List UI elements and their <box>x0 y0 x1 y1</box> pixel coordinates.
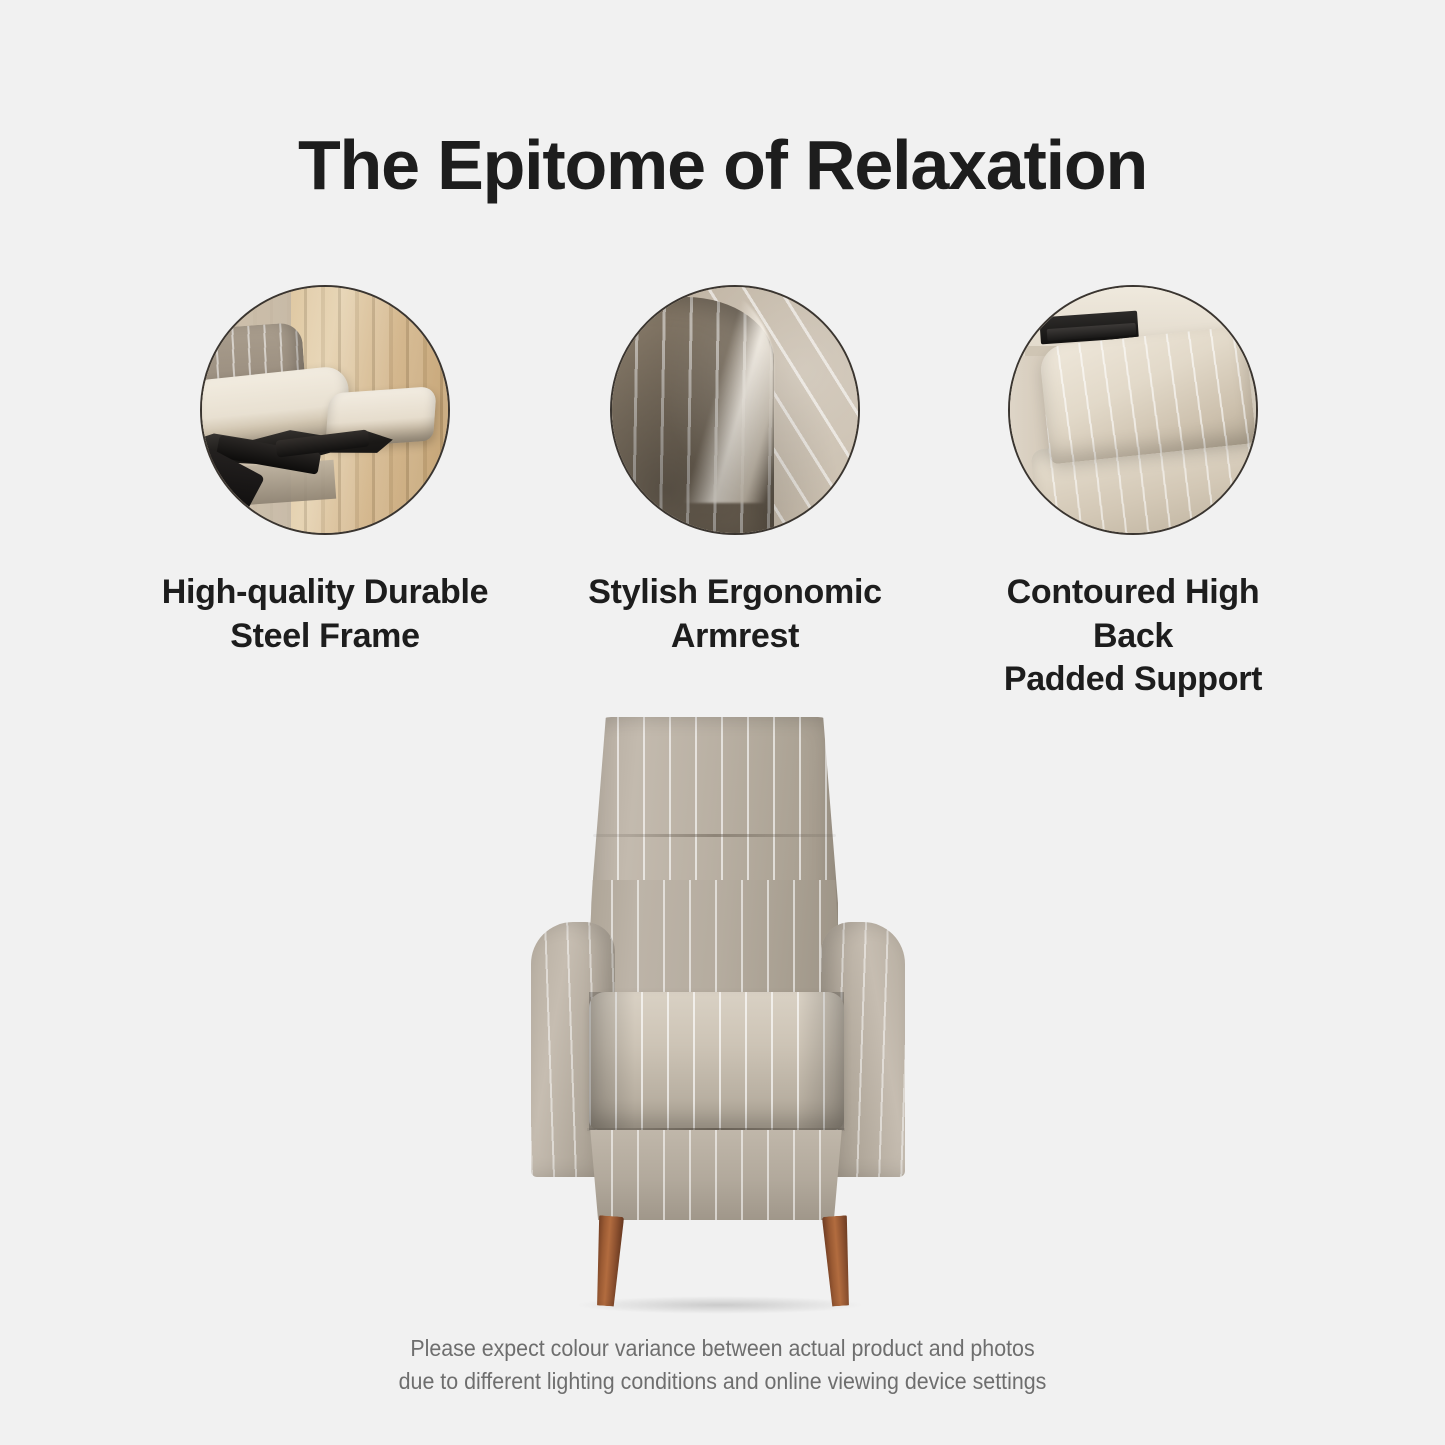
recliner-mechanism-photo <box>202 287 448 533</box>
caption-line-2: Armrest <box>570 615 900 659</box>
recliner-armchair <box>505 700 940 1320</box>
infographic-canvas: The Epitome of Relaxation High-qu <box>0 0 1445 1445</box>
chair-base-skirt <box>585 1130 847 1220</box>
feature-row: High-quality Durable Steel Frame Stylish… <box>0 285 1445 705</box>
feature-high-back: Contoured High Back Padded Support <box>968 285 1298 702</box>
feature-caption-high-back: Contoured High Back Padded Support <box>968 571 1298 702</box>
feature-steel-frame: High-quality Durable Steel Frame <box>160 285 490 658</box>
feature-armrest: Stylish Ergonomic Armrest <box>570 285 900 658</box>
feature-image-high-back <box>1008 285 1258 535</box>
caption-line-1: Stylish Ergonomic <box>588 573 881 611</box>
page-title: The Epitome of Relaxation <box>0 130 1445 200</box>
disclaimer-text: Please expect colour variance between ac… <box>51 1332 1395 1399</box>
feature-caption-armrest: Stylish Ergonomic Armrest <box>570 571 900 658</box>
wooden-leg-left <box>592 1215 624 1307</box>
backrest-seam <box>593 834 836 837</box>
photo-shading <box>612 287 858 533</box>
caption-line-2: Padded Support <box>968 658 1298 702</box>
disclaimer-line-1: Please expect colour variance between ac… <box>51 1332 1395 1365</box>
disclaimer-line-2: due to different lighting conditions and… <box>51 1365 1395 1398</box>
feature-image-armrest <box>610 285 860 535</box>
feature-image-steel-frame <box>200 285 450 535</box>
headrest-photo <box>1010 287 1256 533</box>
caption-line-2: Steel Frame <box>160 615 490 659</box>
armrest-photo <box>612 287 858 533</box>
caption-line-1: Contoured High Back <box>1007 573 1260 655</box>
leg-wood-grain <box>822 1215 854 1307</box>
leg-wood-grain <box>592 1215 624 1307</box>
caption-line-1: High-quality Durable <box>162 573 488 611</box>
feature-caption-steel-frame: High-quality Durable Steel Frame <box>160 571 490 658</box>
floor-shadow <box>575 1296 865 1314</box>
wooden-leg-right <box>822 1215 854 1307</box>
headrest-pillow <box>1039 326 1257 465</box>
seat-cushion <box>589 992 844 1130</box>
hero-product-image <box>0 700 1445 1320</box>
